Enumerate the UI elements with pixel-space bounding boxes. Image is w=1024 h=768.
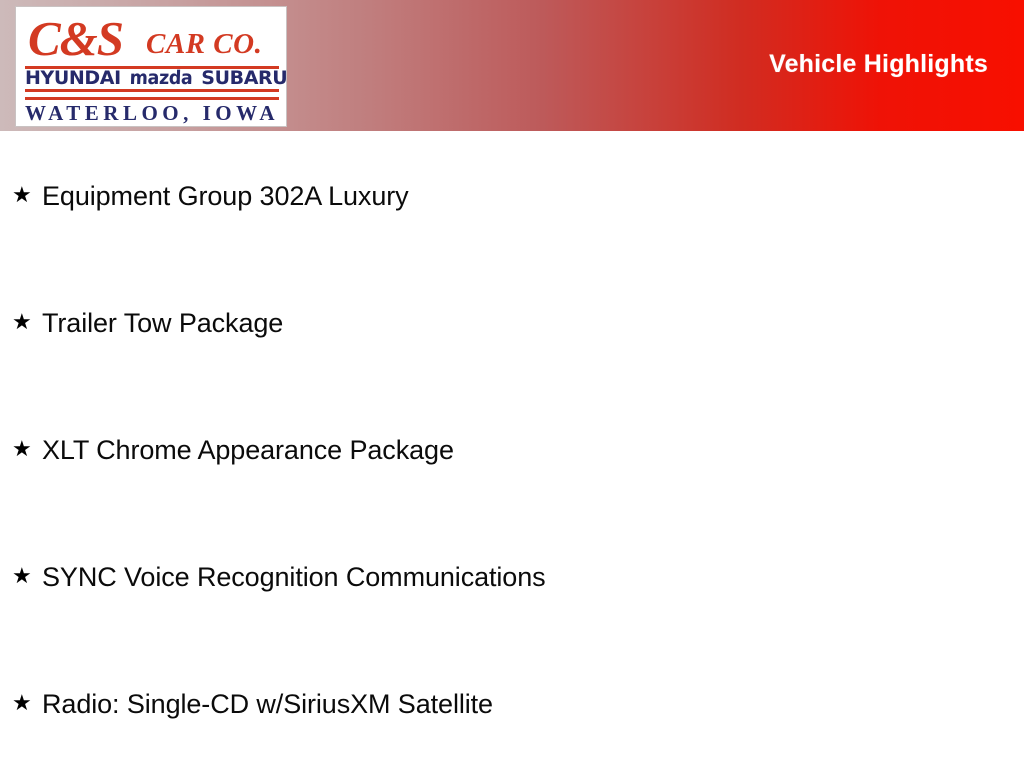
list-item: ★ Equipment Group 302A Luxury bbox=[12, 177, 409, 215]
list-item-label: Equipment Group 302A Luxury bbox=[42, 179, 409, 213]
dealer-logo: C&S CAR CO. HYUNDAI mazda SUBARU WATERLO… bbox=[15, 6, 287, 127]
list-item-label: SYNC Voice Recognition Communications bbox=[42, 560, 546, 594]
list-item: ★ Trailer Tow Package bbox=[12, 304, 283, 342]
list-item: ★ Radio: Single-CD w/SiriusXM Satellite bbox=[12, 685, 493, 723]
logo-brand-line: HYUNDAI mazda SUBARU bbox=[25, 68, 279, 89]
logo-divider-bottom bbox=[25, 97, 279, 100]
logo-cs-text: C&S bbox=[28, 10, 123, 67]
star-bullet-icon: ★ bbox=[12, 184, 42, 206]
star-bullet-icon: ★ bbox=[12, 692, 42, 714]
list-item-label: Trailer Tow Package bbox=[42, 306, 283, 340]
logo-city-text: WATERLOO, IOWA bbox=[25, 101, 279, 126]
page-title: Vehicle Highlights bbox=[769, 50, 988, 79]
star-bullet-icon: ★ bbox=[12, 311, 42, 333]
logo-divider-middle bbox=[25, 89, 279, 92]
star-bullet-icon: ★ bbox=[12, 565, 42, 587]
logo-brand-subaru: SUBARU bbox=[201, 67, 287, 89]
star-bullet-icon: ★ bbox=[12, 438, 42, 460]
logo-brand-mazda: mazda bbox=[129, 68, 192, 89]
vehicle-highlights-slide: Vehicle Highlights C&S CAR CO. HYUNDAI m… bbox=[0, 0, 1024, 768]
logo-carco-text: CAR CO. bbox=[146, 28, 262, 61]
list-item-label: XLT Chrome Appearance Package bbox=[42, 433, 454, 467]
list-item-label: Radio: Single-CD w/SiriusXM Satellite bbox=[42, 687, 493, 721]
logo-brand-hyundai: HYUNDAI bbox=[25, 67, 121, 89]
logo-wordmark: C&S CAR CO. bbox=[16, 12, 287, 66]
list-item: ★ SYNC Voice Recognition Communications bbox=[12, 558, 546, 596]
list-item: ★ XLT Chrome Appearance Package bbox=[12, 431, 454, 469]
